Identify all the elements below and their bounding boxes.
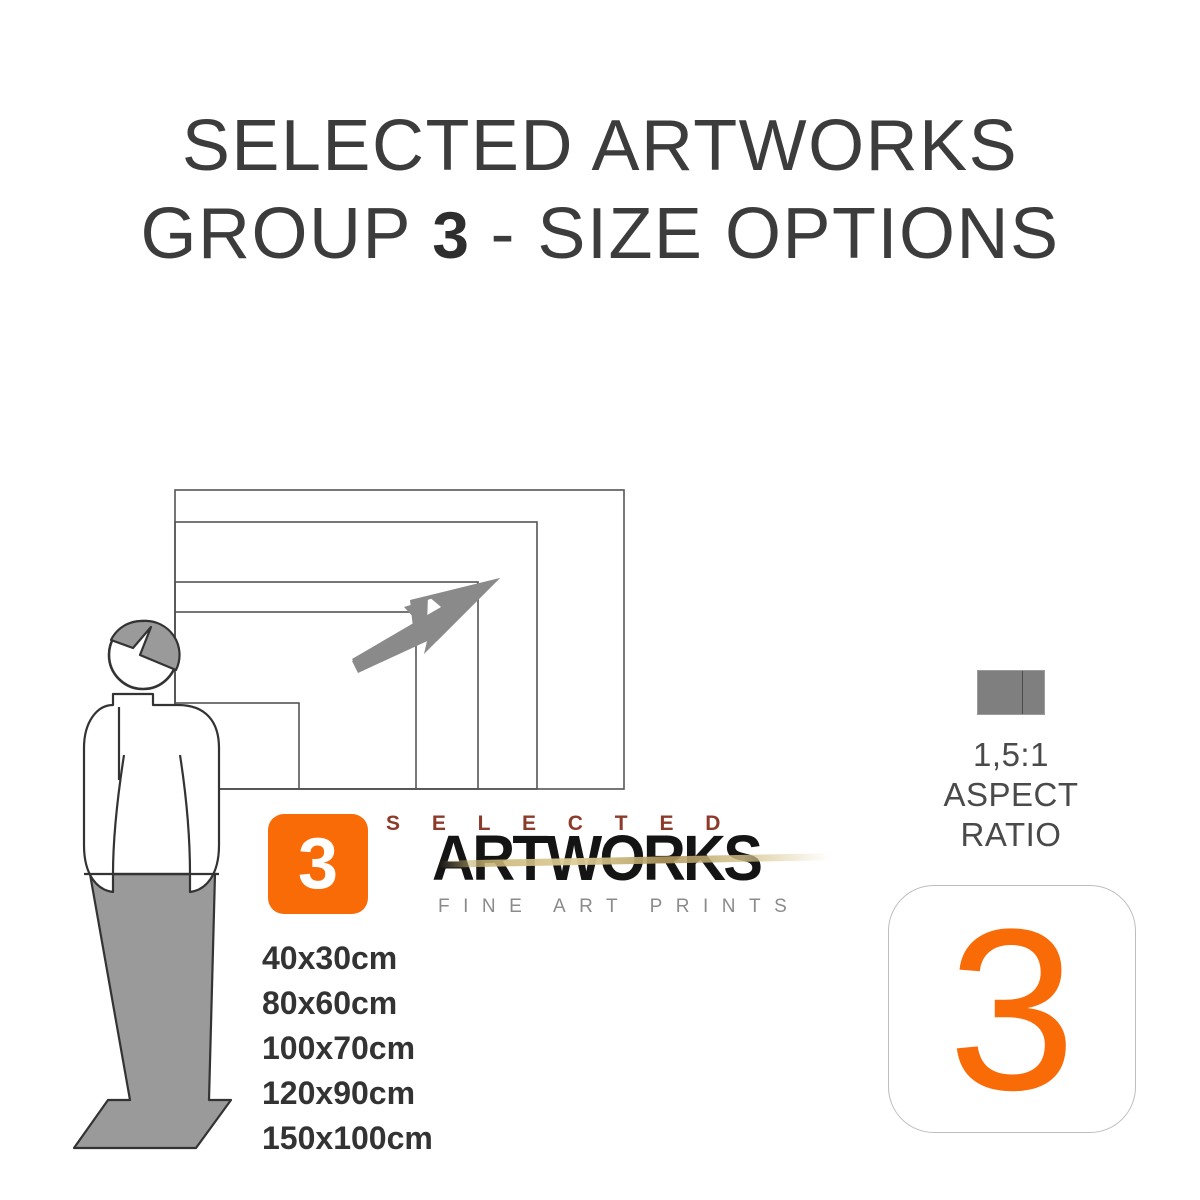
aspect-swatch-divider: [1022, 671, 1023, 714]
group-number-tile-value: 3: [889, 886, 1135, 1134]
aspect-ratio-value: 1,5:1: [896, 735, 1126, 775]
frame-120x90: [175, 522, 537, 789]
poster-canvas: SELECTED ARTWORKS GROUP 3 - SIZE OPTIONS: [0, 0, 1200, 1200]
logo-mark: S E L E C T E D ARTWORKS FINE ART PRINTS: [386, 810, 836, 925]
brand-logo: 3 S E L E C T E D ARTWORKS FINE ART PRIN…: [268, 810, 838, 925]
person-lower-body: [74, 874, 231, 1148]
list-item: 150x100cm: [262, 1116, 682, 1161]
person-torso: [84, 694, 219, 892]
size-options-list: 40x30cm 80x60cm 100x70cm 120x90cm 150x10…: [262, 936, 682, 1161]
list-item: 80x60cm: [262, 981, 682, 1026]
aspect-label-line-1: ASPECT: [896, 775, 1126, 815]
group-number-tile: 3: [888, 885, 1136, 1133]
list-item: 100x70cm: [262, 1026, 682, 1071]
logo-word-fine-art-prints: FINE ART PRINTS: [438, 896, 800, 918]
aspect-ratio-panel: 1,5:1 ASPECT RATIO: [896, 670, 1126, 855]
logo-word-artworks-wrap: ARTWORKS: [432, 826, 836, 888]
aspect-ratio-swatch-icon: [977, 670, 1045, 715]
list-item: 120x90cm: [262, 1071, 682, 1116]
list-item: 40x30cm: [262, 936, 682, 981]
aspect-label-line-2: RATIO: [896, 815, 1126, 855]
group-badge: 3: [268, 814, 368, 914]
person-silhouette: [74, 621, 231, 1148]
logo-word-artworks: ARTWORKS: [432, 826, 808, 888]
